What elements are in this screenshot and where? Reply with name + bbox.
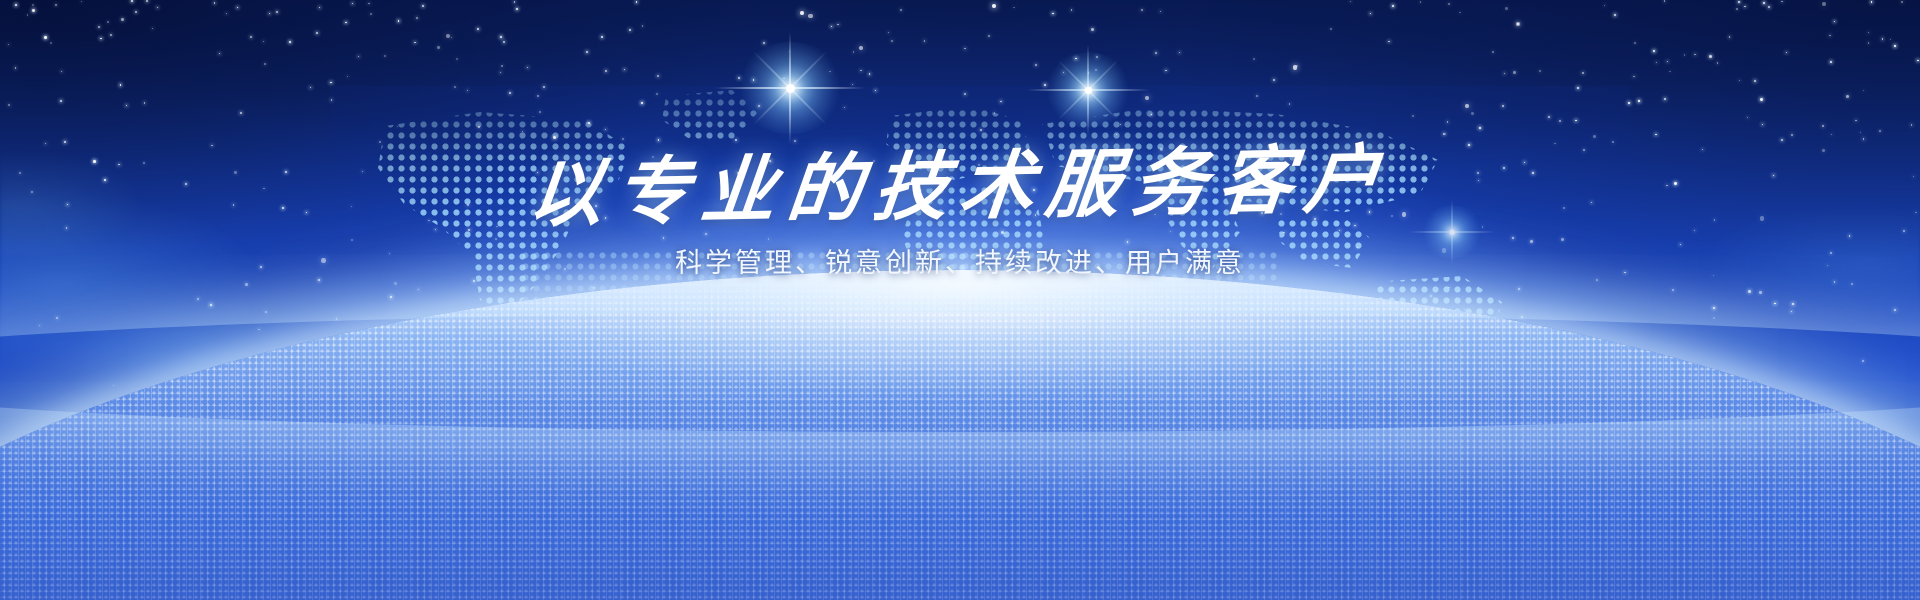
hero-banner: 以专业的技术服务客户 科学管理、锐意创新、持续改进、用户满意 — [0, 0, 1920, 600]
banner-headline: 以专业的技术服务客户 — [0, 133, 1920, 240]
banner-subheadline: 科学管理、锐意创新、持续改进、用户满意 — [0, 250, 1920, 277]
banner-copy: 以专业的技术服务客户 科学管理、锐意创新、持续改进、用户满意 — [0, 150, 1920, 277]
